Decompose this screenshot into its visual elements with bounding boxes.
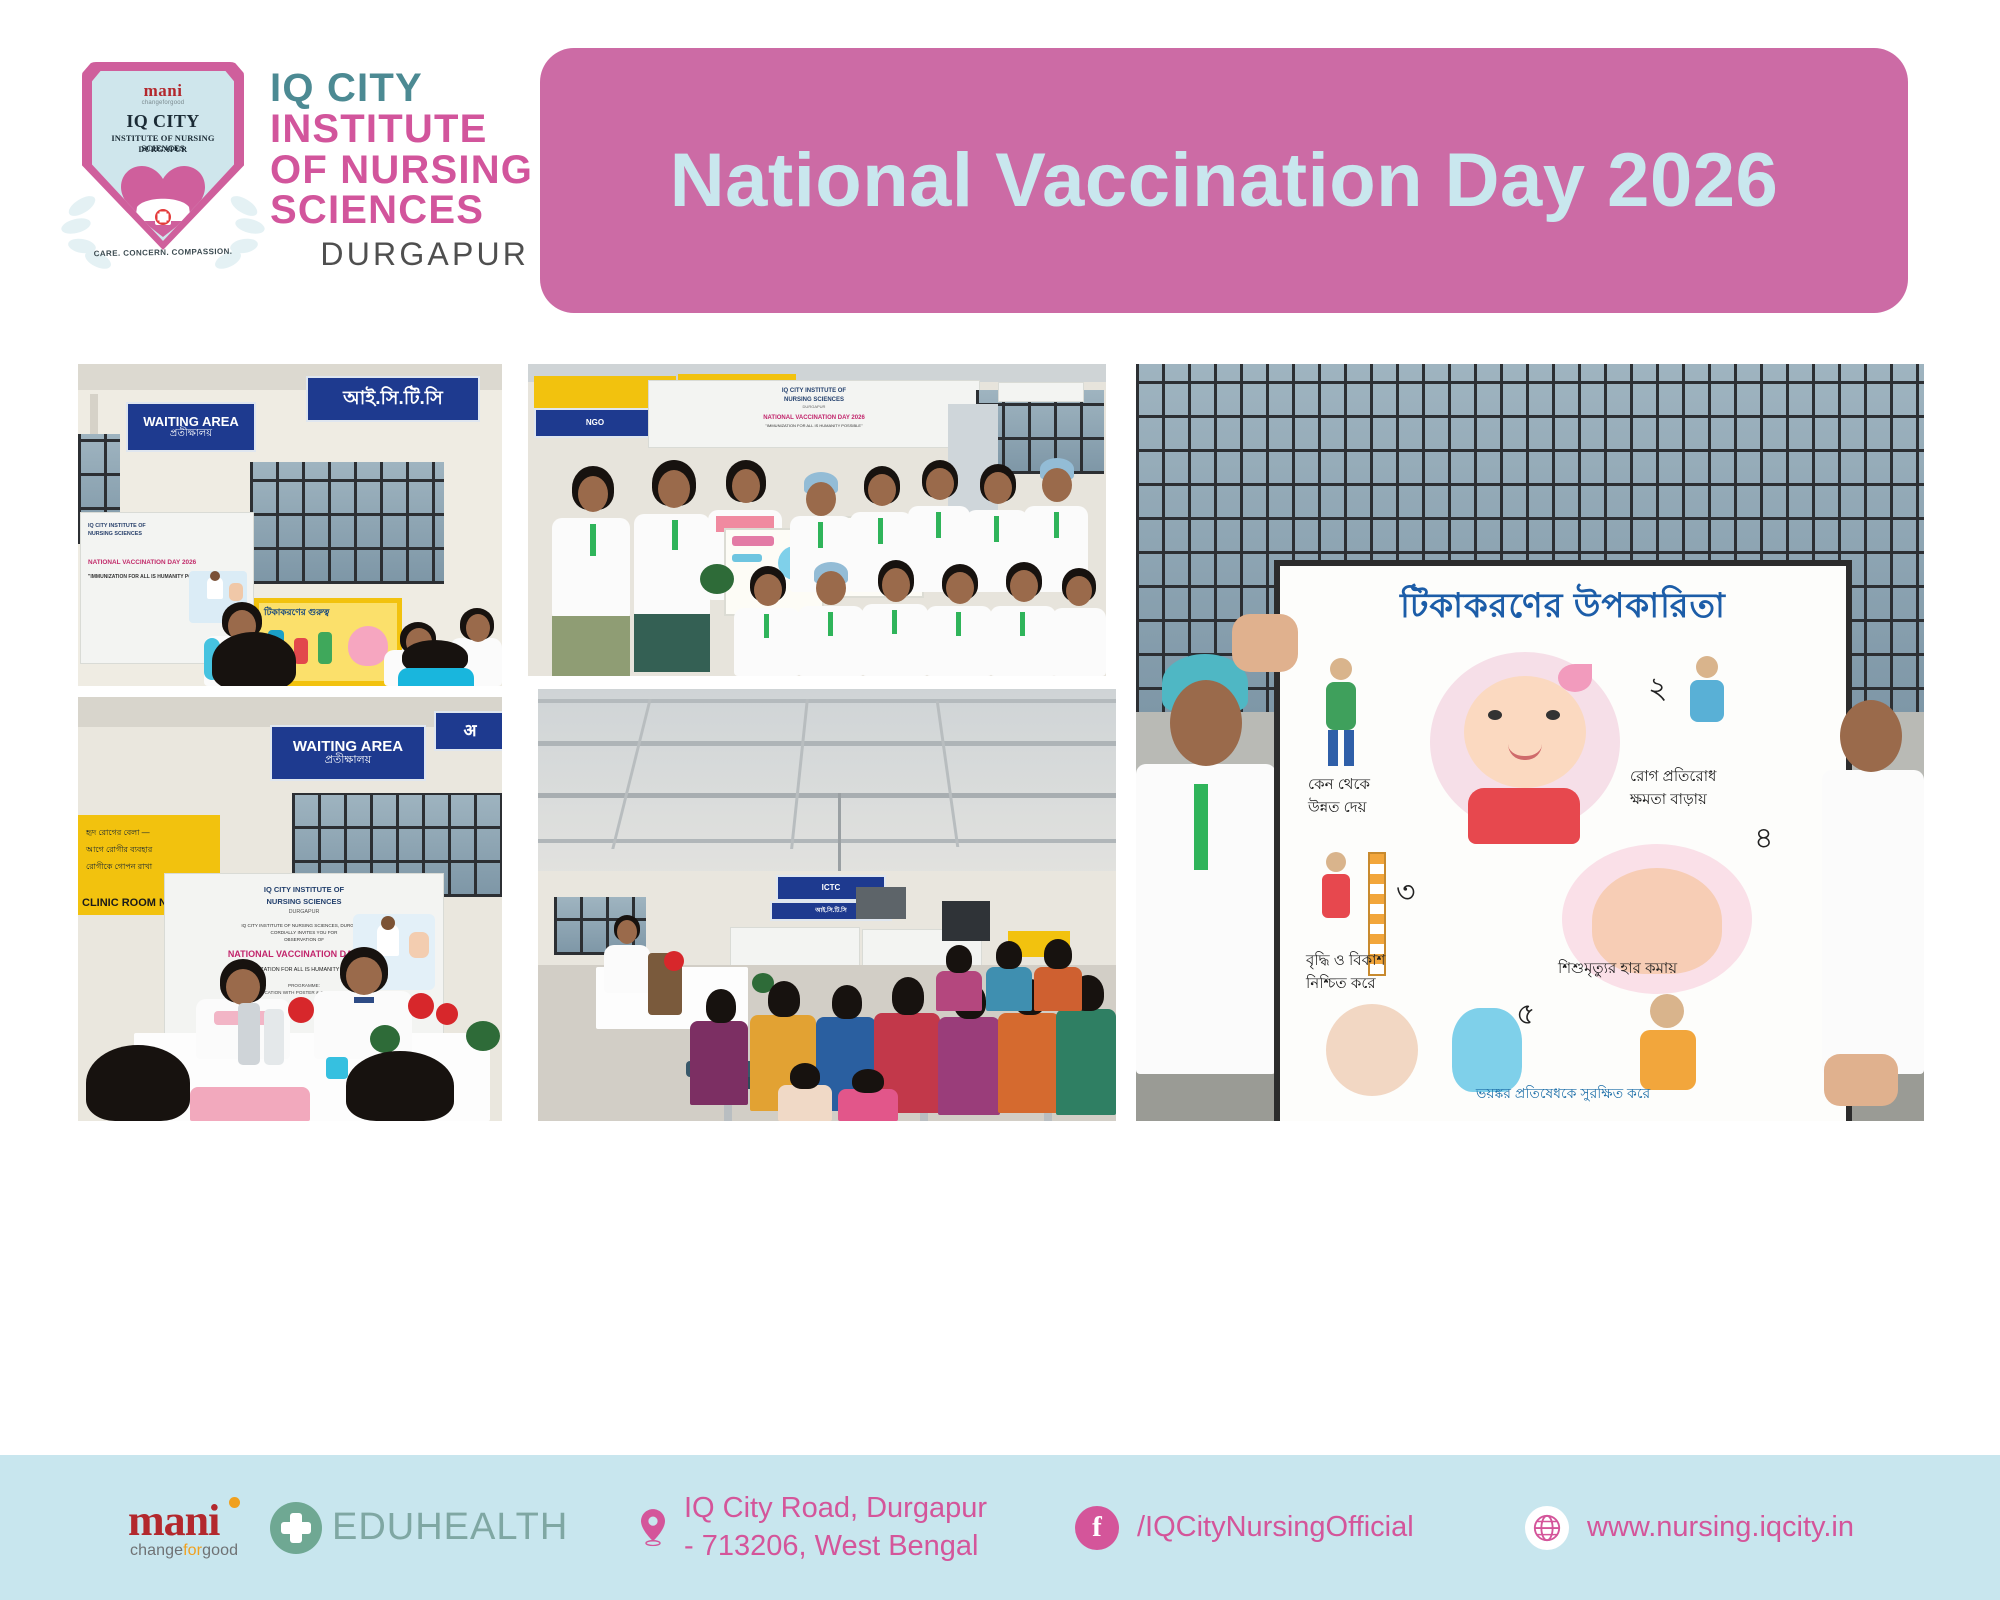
footer-address-item: IQ City Road, Durgapur - 713206, West Be…	[640, 1489, 987, 1567]
wordmark-line-institute: INSTITUTE	[270, 109, 533, 150]
photo-bottom-left: WAITING AREA প্রতীক্ষালয় अ হৃদ রোগের বে…	[78, 697, 502, 1121]
iq-city-crest-logo: mani changeforgood IQ CITY INSTITUTE OF …	[78, 62, 248, 277]
tl-banner-line-2: NURSING SCIENCES	[88, 530, 246, 538]
institute-brand-block: mani changeforgood IQ CITY INSTITUTE OF …	[78, 62, 533, 277]
mani-dot-icon	[229, 1497, 240, 1508]
wordmark-line-of-nursing: OF NURSING	[270, 150, 533, 191]
wordmark-line-iq-city: IQ CITY	[270, 68, 533, 109]
tl-banner-line-1: IQ CITY INSTITUTE OF	[88, 522, 246, 530]
event-title-banner: National Vaccination Day 2026	[540, 48, 1908, 313]
mani-tagline: changeforgood	[130, 1542, 238, 1560]
bl-banner-line-1: IQ CITY INSTITUTE OF	[177, 884, 431, 896]
photo-right: টিকাকরণের উপকারিতা ২ ৪ ৩ ৫	[1136, 364, 1924, 1121]
poster-footer: mani changeforgood EDUHEALTH IQ City Roa…	[0, 1455, 2000, 1600]
facebook-icon[interactable]: f	[1075, 1506, 1119, 1550]
sign-waiting-area: WAITING AREA প্রতীক্ষালয়	[126, 402, 256, 452]
tl-banner-line-3: NATIONAL VACCINATION DAY 2026	[88, 558, 246, 568]
globe-icon[interactable]	[1525, 1506, 1569, 1550]
footer-facebook-item[interactable]: f /IQCityNursingOfficial	[1075, 1506, 1414, 1550]
mani-wordmark: mani	[128, 1499, 219, 1543]
medical-plus-icon	[270, 1502, 322, 1554]
mani-logo: mani changeforgood	[128, 1497, 260, 1559]
crest-changeforgood-text: changeforgood	[92, 100, 234, 106]
poster-header: mani changeforgood IQ CITY INSTITUTE OF …	[0, 0, 2000, 345]
crest-mani-wordmark: mani	[92, 82, 234, 99]
sign-ictc: আই.সি.টি.সি	[306, 376, 480, 422]
crest-city-text: DURGAPUR	[92, 145, 234, 154]
photo-top-center: NGO IQ CITY INSTITUTE OF NURSING SCIENCE…	[528, 364, 1106, 676]
footer-website-url[interactable]: www.nursing.iqcity.in	[1587, 1508, 1854, 1547]
crest-iq-city-text: IQ CITY	[92, 111, 234, 132]
footer-website-item[interactable]: www.nursing.iqcity.in	[1525, 1506, 1854, 1550]
bl-banner-line-2: NURSING SCIENCES	[177, 896, 431, 908]
footer-facebook-handle[interactable]: /IQCityNursingOfficial	[1137, 1508, 1414, 1547]
footer-address-text: IQ City Road, Durgapur - 713206, West Be…	[684, 1489, 987, 1567]
sign-waiting-area-2: WAITING AREA প্রতীক্ষালয়	[270, 725, 426, 781]
location-pin-icon	[640, 1509, 666, 1547]
wordmark-line-sciences: SCIENCES	[270, 190, 533, 231]
tagline-for: for	[183, 1542, 202, 1559]
poster-title-text: টিকাকরণের উপকারিতা	[1280, 580, 1846, 637]
eduhealth-label: EDUHEALTH	[332, 1506, 568, 1549]
wordmark-line-durgapur: DURGAPUR	[270, 235, 533, 273]
event-title-text: National Vaccination Day 2026	[630, 138, 1819, 223]
tagline-change: change	[130, 1542, 183, 1559]
institute-wordmark: IQ CITY INSTITUTE OF NURSING SCIENCES DU…	[270, 62, 533, 274]
photo-top-left: আই.সি.টি.সি WAITING AREA প্রতীক্ষালয় IQ…	[78, 364, 502, 686]
bengali-immunization-poster: টিকাকরণের উপকারিতা ২ ৪ ৩ ৫	[1274, 560, 1852, 1121]
photo-collage-grid: আই.সি.টি.সি WAITING AREA প্রতীক্ষালয় IQ…	[78, 364, 1924, 1121]
photo-bottom-center: ICTC আই.সি.টি.সি	[538, 689, 1116, 1121]
tagline-good: good	[202, 1542, 238, 1559]
mani-eduhealth-logo: mani changeforgood EDUHEALTH	[128, 1497, 568, 1559]
